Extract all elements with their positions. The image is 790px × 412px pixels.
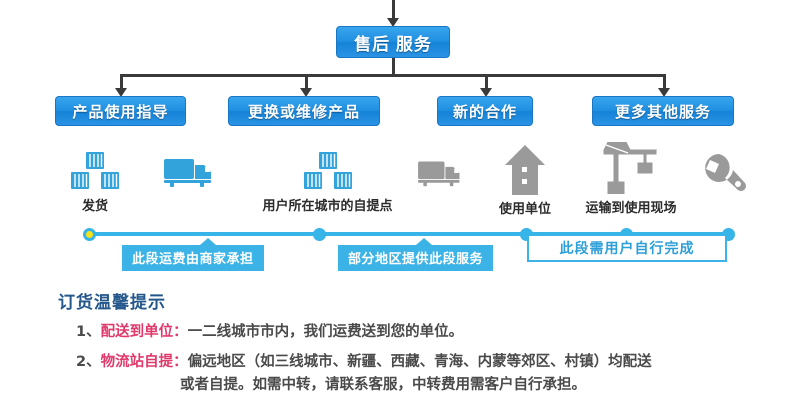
branch-bus-line bbox=[120, 74, 665, 77]
process-step-shipment: 发货 bbox=[50, 150, 140, 214]
timeline-label-merchant-freight: 此段运费由商家承担 bbox=[122, 245, 264, 271]
notes-title: 订货温馨提示 bbox=[58, 288, 788, 313]
timeline-label-user-self-complete: 此段需用户自行完成 bbox=[527, 234, 727, 262]
note-item-1: 1、 配送到单位：一二线城市市内，我们运费送到您的单位。 bbox=[58, 321, 788, 343]
process-step-transport-1 bbox=[155, 155, 225, 192]
timeline-label-notch bbox=[200, 238, 216, 245]
note-item-2-continued: 或者自提。如需中转，请联系客服，中转费用需客户自行承担。 bbox=[58, 374, 788, 396]
flow-node-new-cooperation[interactable]: 新的合作 bbox=[437, 96, 533, 126]
timeline-label-text: 部分地区提供此段服务 bbox=[348, 252, 483, 267]
process-step-installation bbox=[695, 152, 757, 199]
delivery-truck-icon bbox=[418, 158, 464, 188]
note-key: 物流站自提： bbox=[101, 354, 188, 370]
wrench-icon bbox=[702, 152, 750, 196]
timeline-dot-2[interactable] bbox=[313, 228, 326, 241]
flow-node-replace-repair[interactable]: 更换或维修产品 bbox=[228, 96, 380, 126]
order-notes: 订货温馨提示 1、 配送到单位：一二线城市市内，我们运费送到您的单位。 2、 物… bbox=[58, 288, 788, 396]
after-sales-service-infographic: 售后 服务 产品使用指导 更换或维修产品 新的合作 更多其他服务 bbox=[0, 0, 790, 412]
flow-node-root[interactable]: 售后 服务 bbox=[336, 26, 450, 58]
flow-node-more-services[interactable]: 更多其他服务 bbox=[592, 96, 734, 126]
root-inbound-line bbox=[392, 0, 395, 20]
delivery-truck-icon bbox=[164, 155, 216, 189]
process-step-onsite-transport: 运输到使用现场 bbox=[572, 142, 690, 216]
note-text: 偏远地区（如三线城市、新疆、西藏、青海、内蒙等郊区、村镇）均配送 bbox=[188, 354, 652, 370]
house-icon bbox=[504, 145, 546, 195]
containers-stack-icon bbox=[303, 150, 353, 192]
process-step-caption: 用户所在城市的自提点 bbox=[250, 195, 405, 214]
timeline-label-notch bbox=[416, 238, 432, 245]
note-item-2: 2、 物流站自提：偏远地区（如三线城市、新疆、西藏、青海、内蒙等郊区、村镇）均配… bbox=[58, 351, 788, 373]
process-step-using-unit: 使用单位 bbox=[490, 145, 560, 217]
note-number: 1、 bbox=[58, 321, 101, 343]
containers-stack-icon bbox=[70, 150, 120, 192]
timeline-label-text: 此段运费由商家承担 bbox=[132, 252, 254, 267]
process-step-caption: 运输到使用现场 bbox=[572, 197, 690, 216]
process-step-pickup-point: 用户所在城市的自提点 bbox=[250, 150, 405, 214]
note-number: 2、 bbox=[58, 351, 101, 373]
crane-icon bbox=[600, 142, 662, 194]
process-step-caption: 发货 bbox=[50, 195, 140, 214]
flow-node-product-guidance[interactable]: 产品使用指导 bbox=[55, 96, 186, 126]
timeline-label-partial-areas: 部分地区提供此段服务 bbox=[338, 245, 493, 271]
note-text-continued: 或者自提。如需中转，请联系客服，中转费用需客户自行承担。 bbox=[58, 374, 586, 396]
process-step-caption: 使用单位 bbox=[490, 198, 560, 217]
note-text: 一二线城市市内，我们运费送到您的单位。 bbox=[188, 324, 464, 340]
timeline-dot-start[interactable] bbox=[83, 228, 96, 241]
process-step-transport-2 bbox=[410, 158, 472, 191]
note-key: 配送到单位： bbox=[101, 324, 188, 340]
